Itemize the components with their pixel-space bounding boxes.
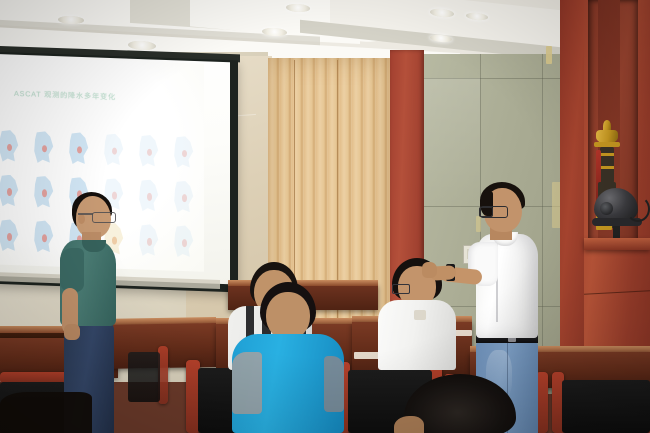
shirt-sleeve [60,248,84,292]
niche-shelf [584,238,650,250]
seated-attendee-white-tee [378,270,456,370]
camera-cable [626,196,650,222]
trophy-stem-accent [600,153,614,156]
foreground-attendee [404,374,516,433]
shoulder [394,416,424,433]
glasses-lens [479,207,493,217]
shirt-logo [414,310,426,320]
map-thumbnail [27,126,60,170]
shirt-shoulder-panel [324,356,344,412]
wood-seam [584,290,650,294]
map-thumbnail [167,220,200,264]
camera-lens [600,202,613,215]
glasses-icon [392,284,410,294]
foreground-shadow [0,392,92,433]
map-thumbnail [62,127,95,171]
glasses-icon [92,212,116,223]
ear [78,214,85,224]
map-thumbnail [97,128,130,172]
map-thumbnail [167,130,200,174]
head [266,292,310,340]
map-thumbnail [0,124,25,168]
trophy-stem-accent [600,166,614,169]
hand [422,262,437,278]
hand [64,324,80,340]
map-thumbnail [167,175,200,219]
dome-security-camera [592,188,646,242]
seated-attendee-blue [232,330,344,433]
chair-backrest[interactable] [562,380,650,433]
conference-room-photo: ASCAT 观测的降水多年变化 [0,0,650,433]
wall-notice-tag [546,46,552,64]
paper-sheet [354,352,380,359]
shirt-shoulder-panel [232,352,262,414]
glasses-temple [78,213,93,215]
map-thumbnail [132,129,165,173]
map-thumbnail [0,214,25,258]
map-thumbnail [0,169,25,213]
